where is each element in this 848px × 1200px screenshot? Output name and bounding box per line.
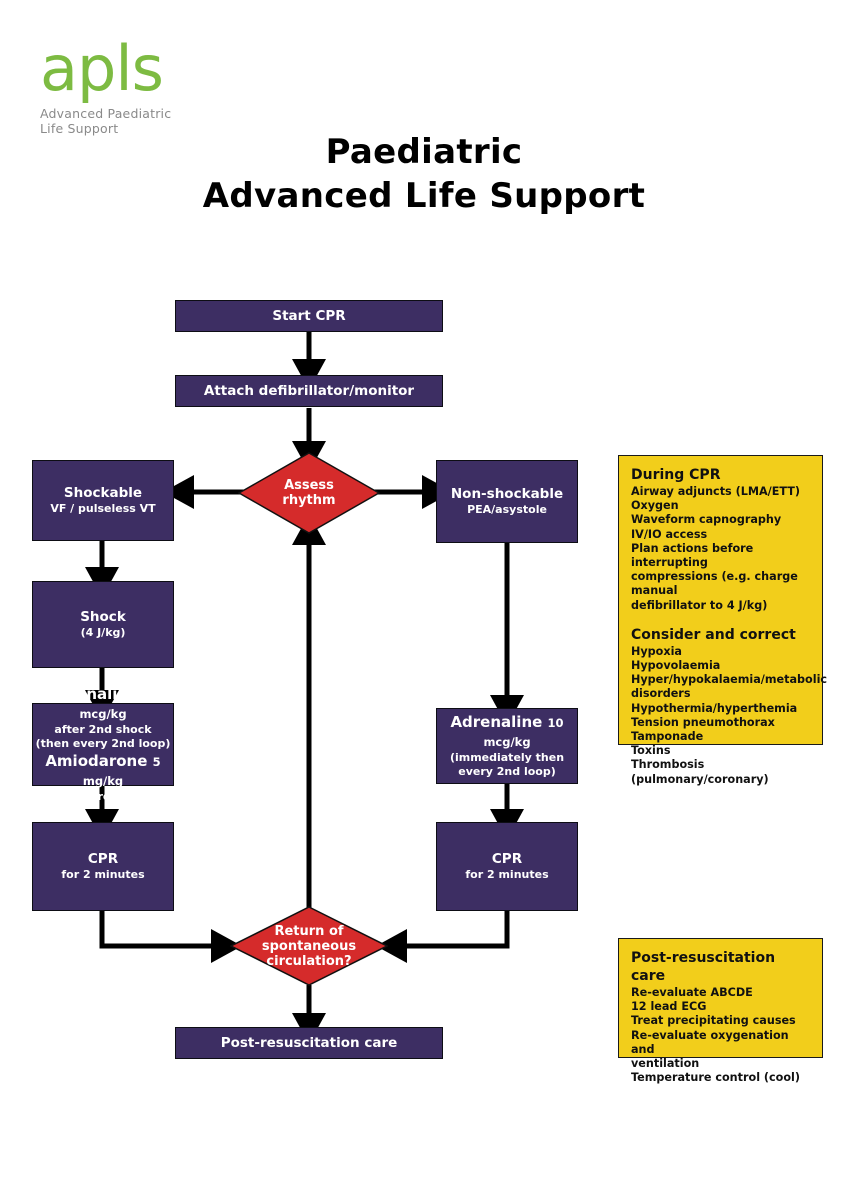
box-cpr-left[interactable]: CPR for 2 minutes <box>32 822 174 911</box>
decision-assess-rhythm-line1: Assess <box>282 478 335 493</box>
box-start-cpr-label: Start CPR <box>272 308 345 325</box>
note-consider-item: Tension pneumothorax <box>631 716 812 730</box>
note-post-resus-item: Re-evaluate oxygenation and <box>631 1029 812 1057</box>
page-title-line1: Paediatric <box>0 130 848 174</box>
note-post-resus-heading: Post-resuscitation care <box>631 949 812 985</box>
note-during-cpr-item: compressions (e.g. charge manual <box>631 570 812 598</box>
note-during-cpr-heading: During CPR <box>631 466 812 484</box>
box-cpr-right-duration: for 2 minutes <box>465 868 548 882</box>
note-post-resus-item: 12 lead ECG <box>631 1000 812 1014</box>
decision-rosc-line1: Return of <box>262 924 356 939</box>
note-during-cpr-item: Airway adjuncts (LMA/ETT) <box>631 485 812 499</box>
note-post-resuscitation-care: Post-resuscitation care Re-evaluate ABCD… <box>618 938 823 1058</box>
box-start-cpr[interactable]: Start CPR <box>175 300 443 332</box>
box-cpr-left-duration: for 2 minutes <box>61 868 144 882</box>
apls-logo-subtitle-line1: Advanced Paediatric <box>40 106 260 121</box>
page-title: Paediatric Advanced Life Support <box>0 130 848 218</box>
note-during-cpr-item: Waveform capnography <box>631 513 812 527</box>
note-post-resus-item: Temperature control (cool) <box>631 1071 812 1085</box>
note-consider-and-correct-heading: Consider and correct <box>631 626 812 644</box>
box-drugs-non-shockable-adrenaline: Adrenaline <box>450 713 542 731</box>
box-drugs-shockable-amiodarone: Amiodarone <box>45 752 147 770</box>
decision-assess-rhythm[interactable]: Assess rhythm <box>238 452 380 534</box>
box-cpr-right[interactable]: CPR for 2 minutes <box>436 822 578 911</box>
box-shockable-subtitle: VF / pulseless VT <box>50 502 155 516</box>
note-during-cpr-item: defibrillator to 4 J/kg) <box>631 599 812 613</box>
box-shock-dose: (4 J/kg) <box>81 626 126 640</box>
box-drugs-shockable-adrenaline-timing1: after 2nd shock <box>54 723 151 737</box>
page-title-line2: Advanced Life Support <box>0 174 848 218</box>
note-consider-item: Toxins <box>631 744 812 758</box>
box-post-resuscitation-care[interactable]: Post-resuscitation care <box>175 1027 443 1059</box>
box-non-shockable-title: Non-shockable <box>451 486 563 503</box>
note-post-resus-item: Re-evaluate ABCDE <box>631 986 812 1000</box>
note-consider-item: disorders <box>631 687 812 701</box>
box-drugs-non-shockable[interactable]: Adrenaline 10 mcg/kg (immediately then e… <box>436 708 578 784</box>
note-consider-item: Hypoxia <box>631 645 812 659</box>
box-drugs-shockable-adrenaline-timing2: (then every 2nd loop) <box>36 737 171 751</box>
note-during-cpr-item: IV/IO access <box>631 528 812 542</box>
note-consider-item: Thrombosis (pulmonary/coronary) <box>631 758 812 786</box>
box-post-resuscitation-care-label: Post-resuscitation care <box>221 1035 398 1052</box>
note-post-resus-item: ventilation <box>631 1057 812 1071</box>
note-during-cpr-item: Oxygen <box>631 499 812 513</box>
box-shockable-title: Shockable <box>64 485 142 502</box>
note-consider-item: Tamponade <box>631 730 812 744</box>
box-cpr-right-title: CPR <box>492 851 522 868</box>
box-shock-title: Shock <box>80 609 126 626</box>
note-consider-item: Hyper/hypokalaemia/metabolic <box>631 673 812 687</box>
box-non-shockable-subtitle: PEA/asystole <box>467 503 547 517</box>
box-drugs-shockable-amiodarone-timing: after 3rd shock <box>56 790 151 804</box>
note-post-resus-item: Treat precipitating causes <box>631 1014 812 1028</box>
box-cpr-left-title: CPR <box>88 851 118 868</box>
note-consider-item: Hypothermia/hyperthemia <box>631 702 812 716</box>
box-non-shockable[interactable]: Non-shockable PEA/asystole <box>436 460 578 543</box>
note-during-cpr-item: Plan actions before interrupting <box>631 542 812 570</box>
box-drugs-non-shockable-timing2: every 2nd loop) <box>458 765 556 779</box>
note-consider-item: Hypovolaemia <box>631 659 812 673</box>
decision-rosc-line2: spontaneous <box>262 939 356 954</box>
box-attach-defibrillator-label: Attach defibrillator/monitor <box>204 383 414 400</box>
decision-return-of-spontaneous-circulation[interactable]: Return of spontaneous circulation? <box>230 906 388 986</box>
box-shockable[interactable]: Shockable VF / pulseless VT <box>32 460 174 541</box>
box-drugs-shockable[interactable]: Adrenaline 10 mcg/kg after 2nd shock (th… <box>32 703 174 786</box>
box-drugs-non-shockable-timing1: (immediately then <box>450 751 564 765</box>
apls-logo-wordmark: apls <box>40 38 260 100</box>
decision-assess-rhythm-line2: rhythm <box>282 493 335 508</box>
box-drugs-shockable-adrenaline: Adrenaline <box>46 685 138 703</box>
decision-rosc-line3: circulation? <box>262 954 356 969</box>
box-shock[interactable]: Shock (4 J/kg) <box>32 581 174 668</box>
note-during-cpr: During CPR Airway adjuncts (LMA/ETT) Oxy… <box>618 455 823 745</box>
box-attach-defibrillator[interactable]: Attach defibrillator/monitor <box>175 375 443 407</box>
